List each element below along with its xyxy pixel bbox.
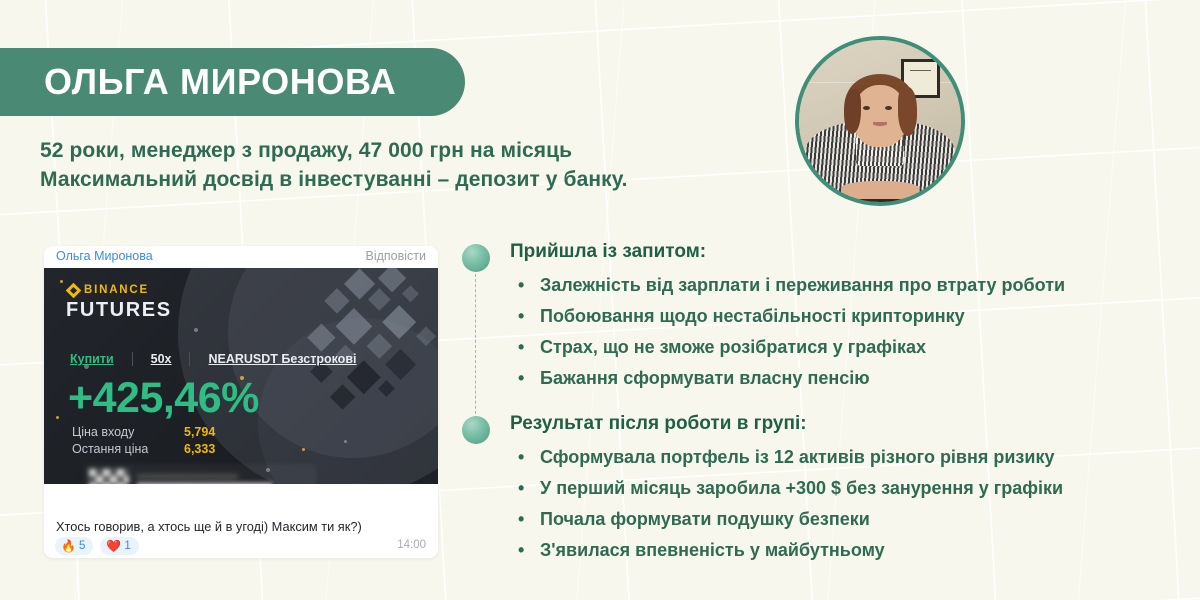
entry-price-value: 5,794 xyxy=(184,424,215,441)
message-text: Хтось говорив, а хтось ще й в угоді) Мак… xyxy=(56,519,362,534)
message-timestamp: 14:00 xyxy=(397,539,426,551)
list-item: Страх, що не зможе розібратися у графіка… xyxy=(510,332,1182,363)
pair-label: NEARUSDT Безстрокові xyxy=(190,352,356,366)
reaction-fire[interactable]: 🔥 5 xyxy=(55,537,93,555)
referral-text-lines xyxy=(137,474,311,484)
binance-logo: BINANCE xyxy=(68,284,149,296)
name-badge: ОЛЬГА МИРОНОВА xyxy=(0,48,465,116)
fire-emoji: 🔥 xyxy=(61,539,76,553)
subtitle-line-1: 52 роки, менеджер з продажу, 47 000 грн … xyxy=(40,136,628,165)
last-price-row: Остання ціна 6,333 xyxy=(72,441,215,458)
list-item: Побоювання щодо нестабільності крипторин… xyxy=(510,301,1182,332)
section-result: Результат після роботи в групі: Сформува… xyxy=(462,412,1182,566)
reply-button[interactable]: Відповісти xyxy=(365,249,426,263)
list-item: З'явилася впевненість у майбутньому xyxy=(510,535,1182,566)
list-item: У перший місяць заробила +300 $ без зану… xyxy=(510,473,1182,504)
bullet-marker-icon xyxy=(462,416,490,444)
binance-diamond-icon xyxy=(66,282,82,298)
price-table: Ціна входу 5,794 Остання ціна 6,333 xyxy=(72,424,215,458)
message-author[interactable]: Ольга Миронова xyxy=(56,249,153,263)
entry-price-row: Ціна входу 5,794 xyxy=(72,424,215,441)
section-request: Прийшла із запитом: Залежність від зарпл… xyxy=(462,240,1182,394)
last-price-value: 6,333 xyxy=(184,441,215,458)
referral-qr-block xyxy=(84,464,316,484)
list-item: Залежність від зарплати і переживання пр… xyxy=(510,270,1182,301)
reaction-heart-count: 1 xyxy=(124,540,130,552)
content-sections: Прийшла із запитом: Залежність від зарпл… xyxy=(462,240,1182,584)
entry-price-label: Ціна входу xyxy=(72,424,184,441)
last-price-label: Остання ціна xyxy=(72,441,184,458)
pnl-percentage: +425,46% xyxy=(68,374,259,423)
trade-summary-row: Купити 50x NEARUSDT Безстрокові xyxy=(70,352,356,366)
section-title: Результат після роботи в групі: xyxy=(510,412,1182,436)
section-title: Прийшла із запитом: xyxy=(510,240,1182,264)
list-item: Сформувала портфель із 12 активів різног… xyxy=(510,442,1182,473)
telegram-card-header: Ольга Миронова Відповісти xyxy=(44,246,438,268)
section-list: Залежність від зарплати і переживання пр… xyxy=(510,270,1182,394)
subtitle: 52 роки, менеджер з продажу, 47 000 грн … xyxy=(40,136,628,194)
bullet-marker-icon xyxy=(462,244,490,272)
avatar-photo xyxy=(799,40,961,202)
futures-label: FUTURES xyxy=(66,299,172,322)
binance-brand-text: BINANCE xyxy=(84,284,149,296)
binance-futures-image[interactable]: BINANCE FUTURES Купити 50x NEARUSDT Безс… xyxy=(44,268,438,484)
reaction-bar[interactable]: 🔥 5 ❤️ 1 xyxy=(55,537,139,555)
dashed-connector xyxy=(475,274,476,424)
trade-side-label: Купити xyxy=(70,352,132,366)
leverage-label: 50x xyxy=(133,352,190,366)
section-list: Сформувала портфель із 12 активів різног… xyxy=(510,442,1182,566)
qr-code-icon xyxy=(89,469,129,484)
page-title: ОЛЬГА МИРОНОВА xyxy=(0,64,396,100)
list-item: Почала формувати подушку безпеки xyxy=(510,504,1182,535)
telegram-message-card[interactable]: Ольга Миронова Відповісти xyxy=(44,246,438,558)
subtitle-line-2: Максимальний досвід в інвестуванні – деп… xyxy=(40,165,628,194)
list-item: Бажання сформувати власну пенсію xyxy=(510,363,1182,394)
reaction-heart[interactable]: ❤️ 1 xyxy=(100,537,138,555)
heart-emoji: ❤️ xyxy=(106,539,121,553)
reaction-fire-count: 5 xyxy=(79,540,85,552)
avatar xyxy=(795,36,965,206)
